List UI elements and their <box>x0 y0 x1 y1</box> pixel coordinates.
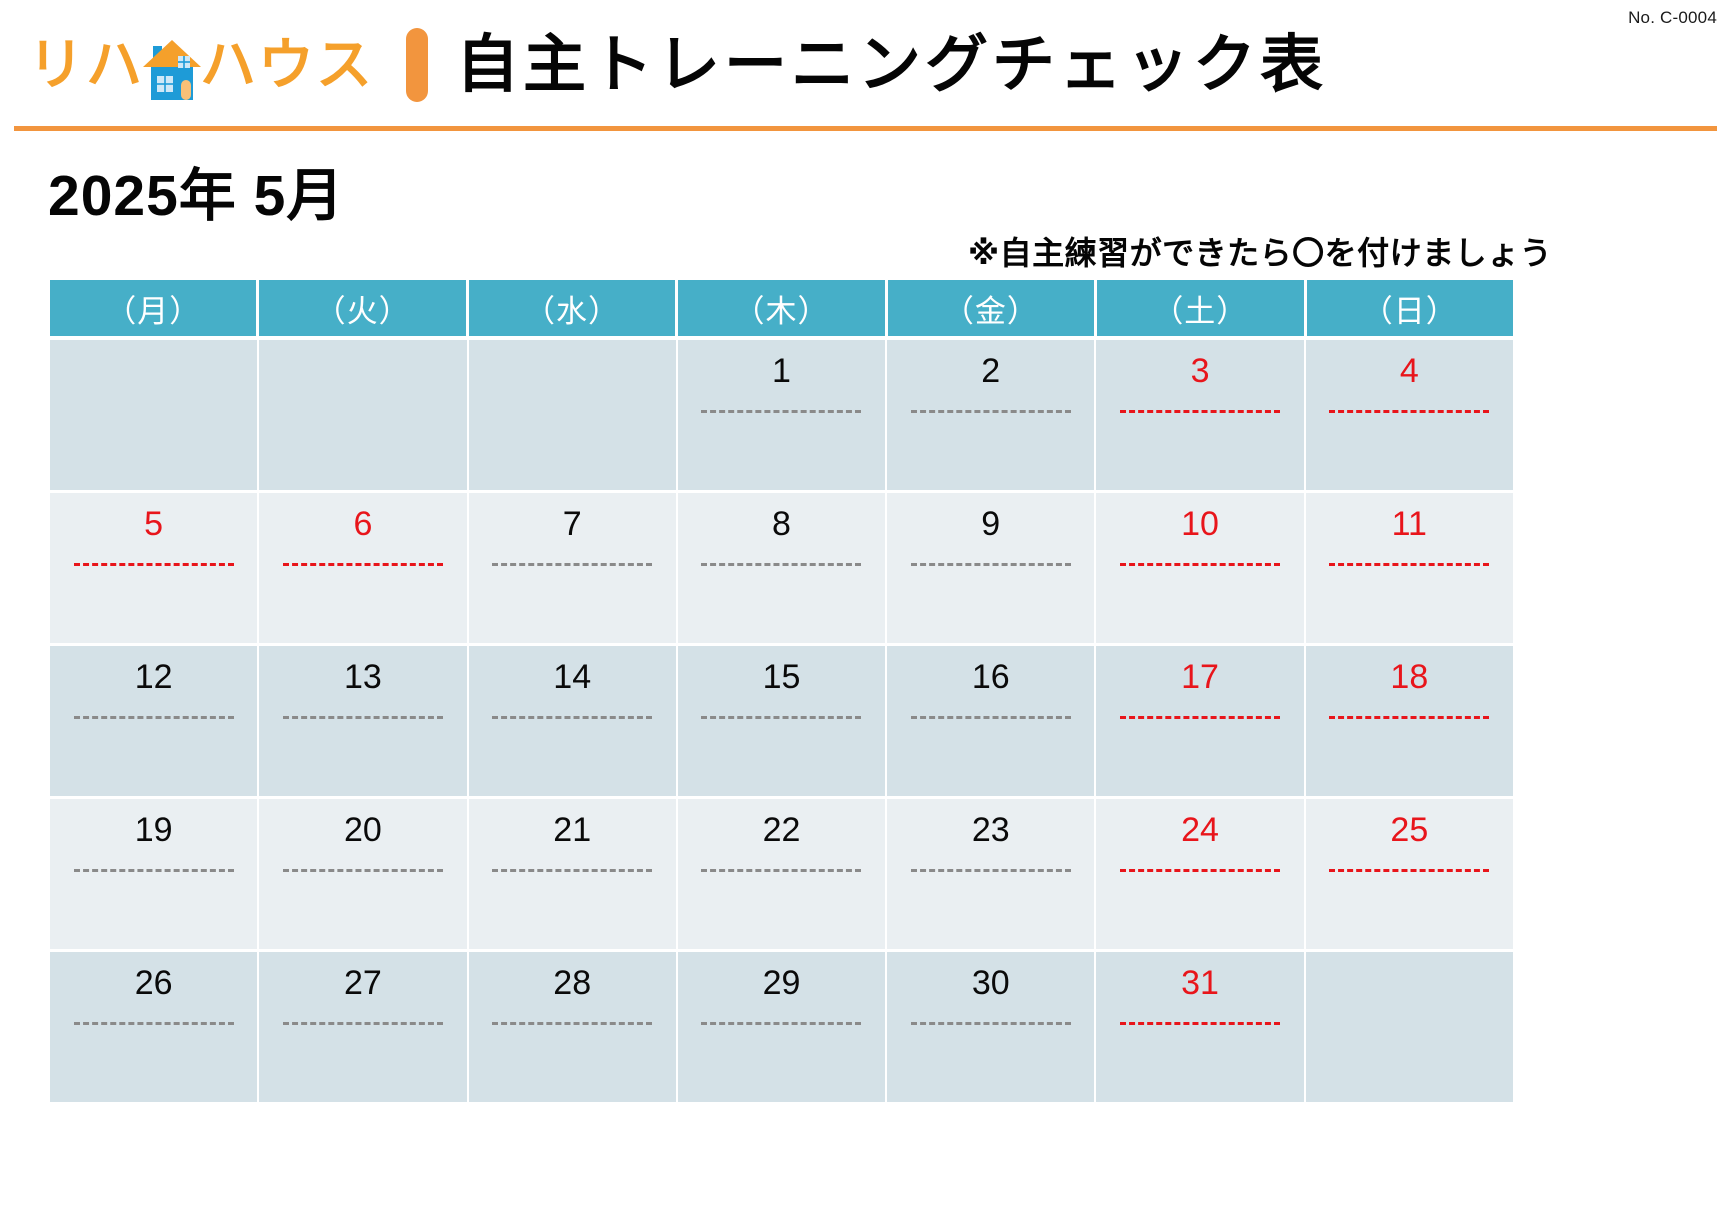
house-icon <box>141 36 203 102</box>
calendar-day-cell-empty <box>1306 952 1513 1102</box>
calendar-day-number: 22 <box>763 813 801 847</box>
calendar-check-writeline[interactable] <box>283 716 443 719</box>
calendar-check-writeline[interactable] <box>74 563 234 566</box>
calendar-check-writeline[interactable] <box>911 563 1071 566</box>
calendar-check-writeline[interactable] <box>701 563 861 566</box>
brand-text-before: リハ <box>28 37 144 93</box>
calendar-check-writeline[interactable] <box>1329 716 1489 719</box>
calendar-day-cell[interactable]: 12 <box>50 646 257 796</box>
title-separator-bar <box>406 28 428 102</box>
calendar-weekday-header-2: （水） <box>469 280 675 336</box>
calendar-check-writeline[interactable] <box>1329 869 1489 872</box>
page-title: 自主トレーニングチェック表 <box>456 34 1327 97</box>
calendar-day-number: 14 <box>553 660 591 694</box>
calendar-check-writeline[interactable] <box>492 1022 652 1025</box>
brand-logo: リハ ハウス <box>28 20 374 110</box>
calendar-check-writeline[interactable] <box>283 869 443 872</box>
calendar-check-writeline[interactable] <box>911 1022 1071 1025</box>
calendar-day-cell[interactable]: 20 <box>259 799 466 949</box>
calendar-check-writeline[interactable] <box>911 716 1071 719</box>
calendar-day-cell-empty <box>259 340 466 490</box>
calendar-day-cell[interactable]: 15 <box>678 646 885 796</box>
calendar-day-number: 12 <box>135 660 173 694</box>
header-divider <box>14 126 1717 131</box>
calendar-day-number: 16 <box>972 660 1010 694</box>
calendar-week-row: 12131415161718 <box>50 646 1513 796</box>
calendar-day-cell[interactable]: 28 <box>469 952 676 1102</box>
calendar-day-number: 9 <box>981 507 1000 541</box>
calendar-day-cell[interactable]: 16 <box>887 646 1094 796</box>
calendar-day-cell[interactable]: 25 <box>1306 799 1513 949</box>
calendar-day-cell[interactable]: 24 <box>1096 799 1303 949</box>
calendar-day-number: 10 <box>1181 507 1219 541</box>
calendar-day-number: 24 <box>1181 813 1219 847</box>
calendar-week-row: 1234 <box>50 340 1513 490</box>
calendar-day-cell[interactable]: 1 <box>678 340 885 490</box>
calendar-weekday-header-1: （火） <box>259 280 465 336</box>
calendar-day-number: 19 <box>135 813 173 847</box>
calendar-day-cell[interactable]: 23 <box>887 799 1094 949</box>
calendar-day-cell[interactable]: 2 <box>887 340 1094 490</box>
calendar-day-number: 13 <box>344 660 382 694</box>
calendar-table: （月）（火）（水）（木）（金）（土）（日） 123456789101112131… <box>50 280 1513 1105</box>
calendar-day-number: 6 <box>353 507 372 541</box>
calendar-day-cell[interactable]: 4 <box>1306 340 1513 490</box>
calendar-day-cell[interactable]: 3 <box>1096 340 1303 490</box>
calendar-check-writeline[interactable] <box>701 1022 861 1025</box>
calendar-check-writeline[interactable] <box>74 869 234 872</box>
calendar-week-row: 262728293031 <box>50 952 1513 1102</box>
calendar-weekday-header-6: （日） <box>1307 280 1513 336</box>
calendar-body: 1234567891011121314151617181920212223242… <box>50 340 1513 1102</box>
calendar-week-row: 19202122232425 <box>50 799 1513 949</box>
calendar-check-writeline[interactable] <box>1120 869 1280 872</box>
calendar-day-cell[interactable]: 31 <box>1096 952 1303 1102</box>
calendar-day-number: 27 <box>344 966 382 1000</box>
calendar-weekday-header-3: （木） <box>678 280 884 336</box>
calendar-check-writeline[interactable] <box>701 716 861 719</box>
calendar-day-cell[interactable]: 17 <box>1096 646 1303 796</box>
calendar-day-cell[interactable]: 27 <box>259 952 466 1102</box>
calendar-day-cell[interactable]: 26 <box>50 952 257 1102</box>
calendar-day-cell[interactable]: 5 <box>50 493 257 643</box>
instruction-note: ※自主練習ができたら〇を付けましょう <box>968 228 1552 274</box>
calendar-day-cell[interactable]: 30 <box>887 952 1094 1102</box>
calendar-day-number: 26 <box>135 966 173 1000</box>
calendar-header-row: （月）（火）（水）（木）（金）（土）（日） <box>50 280 1513 336</box>
calendar-day-cell-empty <box>469 340 676 490</box>
calendar-day-cell[interactable]: 21 <box>469 799 676 949</box>
calendar-day-cell[interactable]: 7 <box>469 493 676 643</box>
calendar-day-cell[interactable]: 11 <box>1306 493 1513 643</box>
calendar-day-number: 28 <box>553 966 591 1000</box>
calendar-weekday-header-4: （金） <box>888 280 1094 336</box>
calendar-day-cell[interactable]: 19 <box>50 799 257 949</box>
calendar-day-number: 8 <box>772 507 791 541</box>
calendar-day-number: 2 <box>981 354 1000 388</box>
calendar-check-writeline[interactable] <box>1329 563 1489 566</box>
page-header: リハ ハウス 自主トレーニングチェック表 <box>0 0 1731 130</box>
calendar-day-cell[interactable]: 9 <box>887 493 1094 643</box>
calendar-check-writeline[interactable] <box>911 869 1071 872</box>
calendar-check-writeline[interactable] <box>1329 410 1489 413</box>
calendar-day-cell[interactable]: 6 <box>259 493 466 643</box>
calendar-day-number: 4 <box>1400 354 1419 388</box>
calendar-weekday-header-5: （土） <box>1097 280 1303 336</box>
calendar-check-writeline[interactable] <box>283 563 443 566</box>
calendar-check-writeline[interactable] <box>74 716 234 719</box>
calendar-day-cell[interactable]: 13 <box>259 646 466 796</box>
calendar-check-writeline[interactable] <box>492 563 652 566</box>
calendar-day-number: 20 <box>344 813 382 847</box>
calendar-day-number: 17 <box>1181 660 1219 694</box>
calendar-day-number: 15 <box>763 660 801 694</box>
calendar-day-number: 29 <box>763 966 801 1000</box>
calendar-check-writeline[interactable] <box>701 869 861 872</box>
calendar-day-cell[interactable]: 14 <box>469 646 676 796</box>
calendar-check-writeline[interactable] <box>492 716 652 719</box>
calendar-day-number: 23 <box>972 813 1010 847</box>
calendar-check-writeline[interactable] <box>1120 1022 1280 1025</box>
calendar-day-number: 18 <box>1390 660 1428 694</box>
calendar-day-cell[interactable]: 10 <box>1096 493 1303 643</box>
calendar-day-number: 30 <box>972 966 1010 1000</box>
calendar-day-number: 3 <box>1191 354 1210 388</box>
calendar-check-writeline[interactable] <box>492 869 652 872</box>
calendar-check-writeline[interactable] <box>74 1022 234 1025</box>
calendar-day-number: 1 <box>772 354 791 388</box>
calendar-day-number: 7 <box>563 507 582 541</box>
calendar-check-writeline[interactable] <box>911 410 1071 413</box>
calendar-day-number: 31 <box>1181 966 1219 1000</box>
calendar-day-cell[interactable]: 29 <box>678 952 885 1102</box>
calendar-weekday-header-0: （月） <box>50 280 256 336</box>
calendar-day-number: 11 <box>1392 507 1427 541</box>
calendar-check-writeline[interactable] <box>1120 410 1280 413</box>
calendar-day-number: 25 <box>1390 813 1428 847</box>
month-title: 2025年 5月 <box>48 165 344 228</box>
calendar-day-cell[interactable]: 18 <box>1306 646 1513 796</box>
brand-text-after: ハウス <box>200 37 374 93</box>
calendar-check-writeline[interactable] <box>701 410 861 413</box>
calendar-day-cell[interactable]: 22 <box>678 799 885 949</box>
calendar-day-cell-empty <box>50 340 257 490</box>
calendar-day-number: 5 <box>144 507 163 541</box>
calendar-check-writeline[interactable] <box>1120 563 1280 566</box>
calendar-day-number: 21 <box>553 813 591 847</box>
calendar-day-cell[interactable]: 8 <box>678 493 885 643</box>
calendar-week-row: 567891011 <box>50 493 1513 643</box>
calendar-check-writeline[interactable] <box>1120 716 1280 719</box>
calendar-check-writeline[interactable] <box>283 1022 443 1025</box>
